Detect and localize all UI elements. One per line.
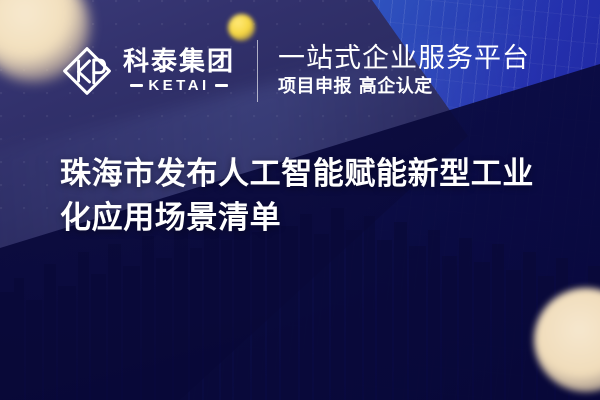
glow-orb-gold <box>228 14 255 41</box>
promo-banner: 科泰集团 KETAI 一站式企业服务平台 项目申报 高企认定 珠海市发布人工智能… <box>0 0 600 400</box>
tagline-block: 一站式企业服务平台 项目申报 高企认定 <box>278 45 530 97</box>
ketai-logo[interactable]: 科泰集团 KETAI <box>60 44 235 98</box>
ketai-diamond-kp-monogram-icon <box>60 44 114 98</box>
headline-text: 珠海市发布人工智能赋能新型工业化应用场景清单 <box>60 152 560 240</box>
logo-name-en-row: KETAI <box>123 78 235 93</box>
logo-name-cn: 科泰集团 <box>123 49 235 75</box>
brand-header: 科泰集团 KETAI 一站式企业服务平台 项目申报 高企认定 <box>60 40 530 102</box>
header-divider <box>257 40 258 102</box>
logo-dash-left <box>130 84 143 87</box>
tagline-secondary: 项目申报 高企认定 <box>278 78 530 97</box>
logo-dash-right <box>215 84 228 87</box>
tagline-primary: 一站式企业服务平台 <box>278 45 530 73</box>
logo-name-en: KETAI <box>148 78 209 93</box>
logo-wordmark: 科泰集团 KETAI <box>123 49 235 93</box>
